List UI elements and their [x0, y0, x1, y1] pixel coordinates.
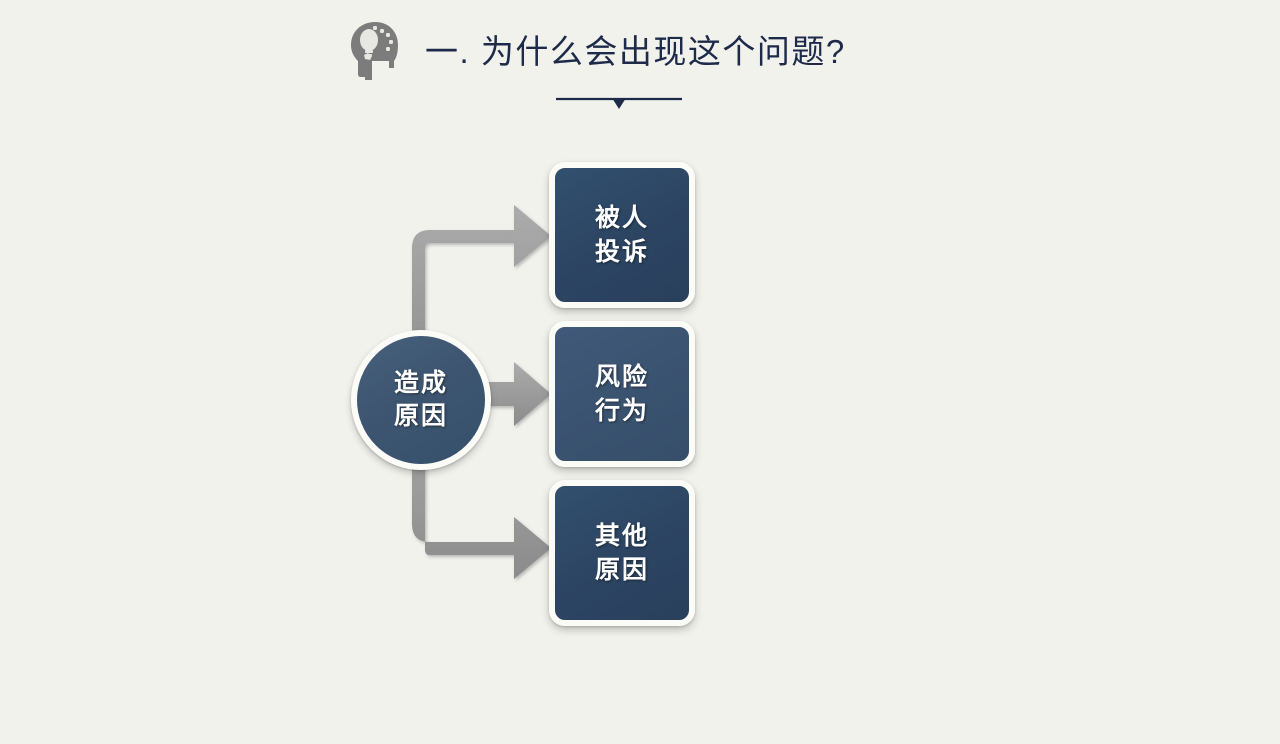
cause-node[interactable]: 造成 原因 [351, 330, 491, 470]
outcome-other-line-1: 其他 [595, 519, 649, 553]
cause-node-line-1: 造成 [394, 367, 448, 400]
outcome-risk-behavior[interactable]: 风险 行为 [549, 321, 695, 467]
outcome-risk-line-2: 行为 [595, 394, 649, 428]
connector-to-risk [486, 362, 551, 426]
outcome-complaint-line-1: 被人 [595, 201, 649, 235]
cause-node-line-2: 原因 [394, 400, 448, 433]
outcome-complaint-line-2: 投诉 [595, 235, 649, 269]
outcome-risk-line-1: 风险 [595, 360, 649, 394]
outcome-complaint[interactable]: 被人 投诉 [549, 162, 695, 308]
outcome-other-line-2: 原因 [595, 553, 649, 587]
outcome-other-reasons[interactable]: 其他 原因 [549, 480, 695, 626]
flow-diagram: 造成 原因 被人 投诉 风险 行为 其他 原因 [0, 0, 1280, 744]
slide-canvas: 一. 为什么会出现这个问题? [0, 0, 1280, 744]
